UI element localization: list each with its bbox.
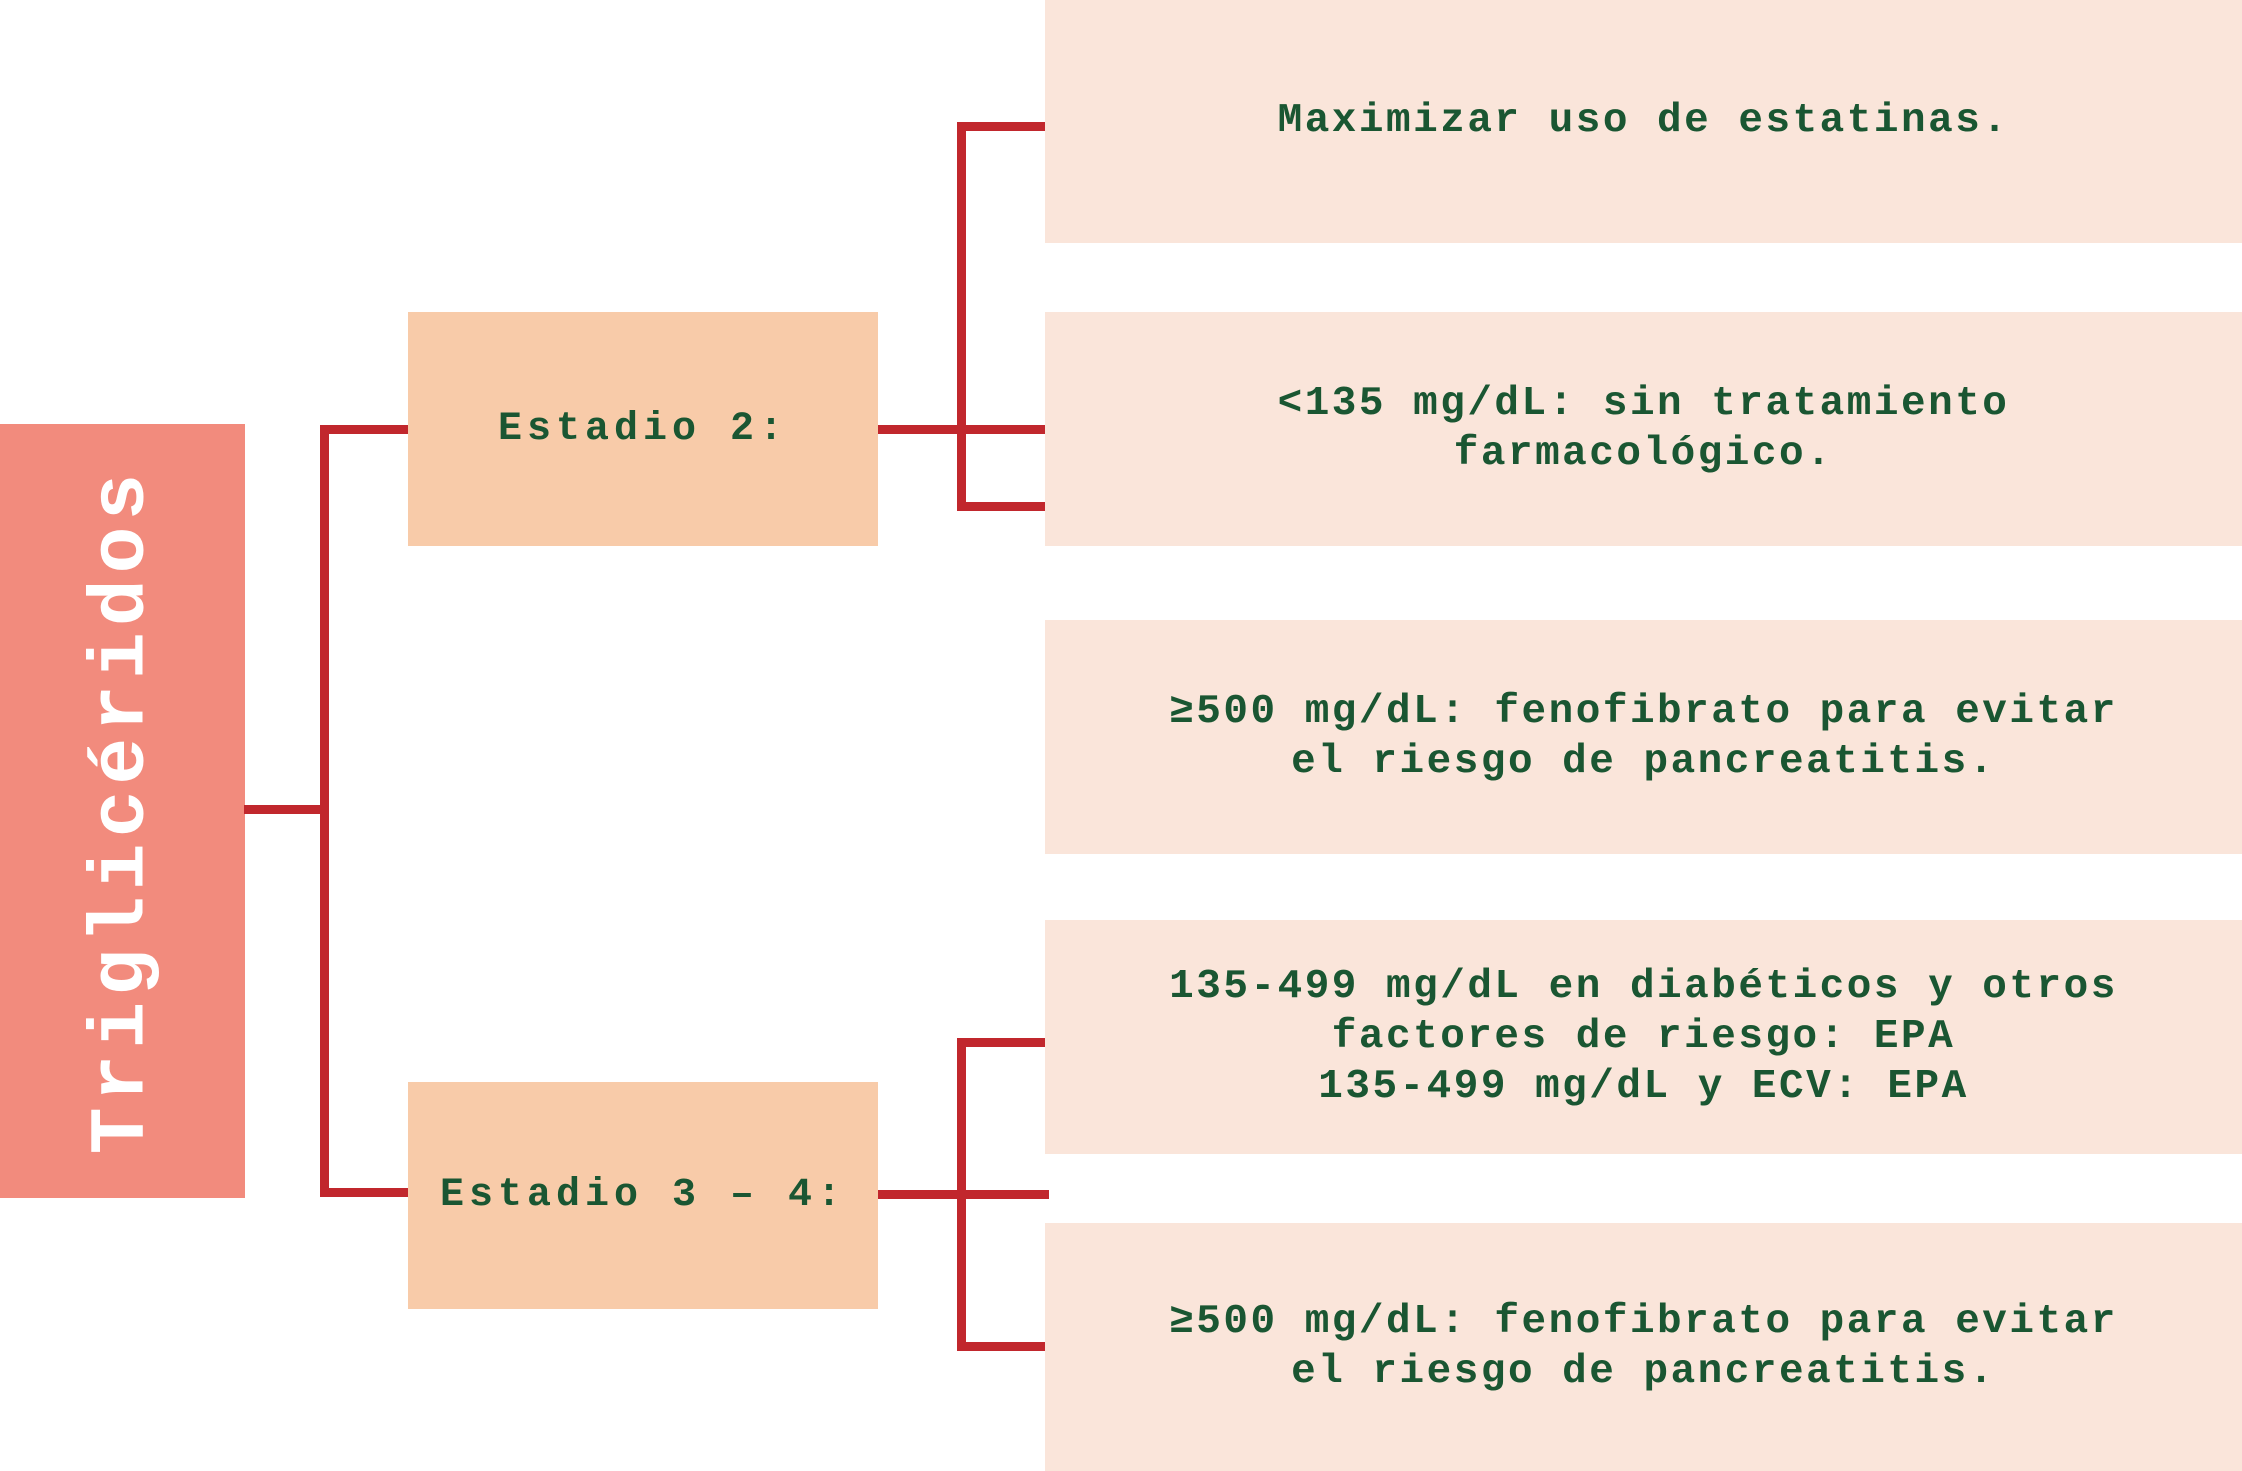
connector-stage-2-leaf-2 — [957, 502, 1049, 511]
connector-stage-2-spine — [957, 122, 966, 511]
root-node-label: Triglicéridos — [84, 468, 162, 1155]
connector-stage-2-leaf-1 — [878, 425, 1049, 434]
connector-trunk-to-stage-2 — [320, 425, 410, 434]
leaf-node-135-499-epa[interactable]: 135-499 mg/dL en diabéticos y otros fact… — [1045, 920, 2242, 1154]
leaf-node-maximizar-estatinas[interactable]: Maximizar uso de estatinas. — [1045, 0, 2242, 243]
leaf-node-label-4: ≥500 mg/dL: fenofibrato para evitar el r… — [1169, 1297, 2118, 1397]
leaf-node-menor-135[interactable]: <135 mg/dL: sin tratamiento farmacológic… — [1045, 312, 2242, 546]
connector-stage-3-4-leaf-1 — [957, 1342, 1049, 1351]
stage-node-label-estadio-3-4: Estadio 3 – 4: — [440, 1173, 846, 1218]
connector-stage-3-4-leaf-0 — [957, 1038, 1049, 1047]
leaf-node-label-2: ≥500 mg/dL: fenofibrato para evitar el r… — [1169, 687, 2118, 787]
diagram-canvas: Triglicéridos Estadio 2: Estadio 3 – 4: … — [0, 0, 2242, 1471]
leaf-node-mayor-500-estadio-2[interactable]: ≥500 mg/dL: fenofibrato para evitar el r… — [1045, 620, 2242, 854]
connector-root-stem — [244, 805, 328, 814]
leaf-node-mayor-500-estadio-3-4[interactable]: ≥500 mg/dL: fenofibrato para evitar el r… — [1045, 1223, 2242, 1471]
leaf-node-label-3: 135-499 mg/dL en diabéticos y otros fact… — [1169, 962, 2118, 1112]
stage-node-estadio-2[interactable]: Estadio 2: — [408, 312, 878, 546]
stage-node-estadio-3-4[interactable]: Estadio 3 – 4: — [408, 1082, 878, 1309]
connector-trunk-vertical — [320, 425, 329, 1197]
connector-stage-3-4-stem — [878, 1190, 1049, 1199]
connector-stage-2-leaf-0 — [957, 122, 1049, 131]
leaf-node-label-1: <135 mg/dL: sin tratamiento farmacológic… — [1278, 379, 2010, 479]
leaf-node-label-0: Maximizar uso de estatinas. — [1278, 96, 2010, 146]
root-node-trigliceridos[interactable]: Triglicéridos — [0, 424, 245, 1198]
connector-trunk-to-stage-3-4 — [320, 1188, 410, 1197]
stage-node-label-estadio-2: Estadio 2: — [498, 407, 788, 452]
